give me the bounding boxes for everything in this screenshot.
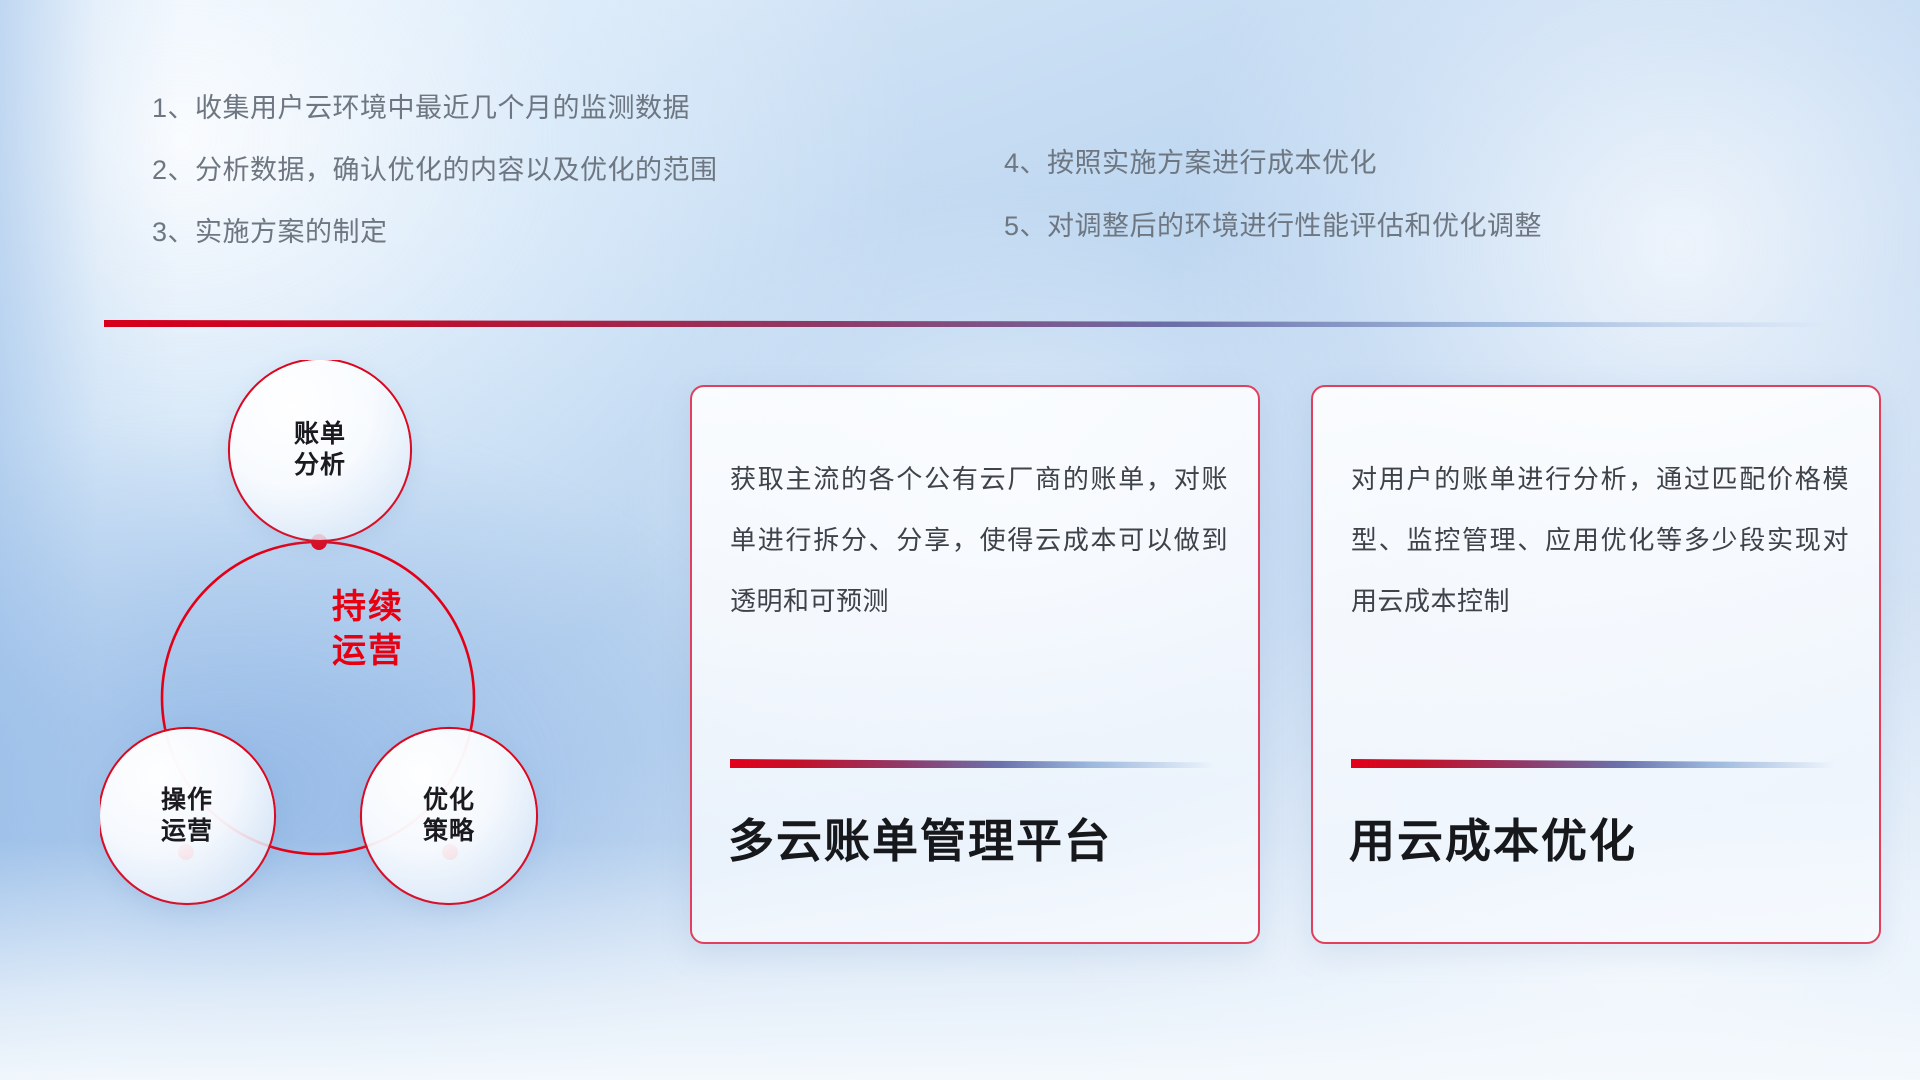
venn-bubble-label-line1: 优化: [423, 785, 475, 817]
venn-bubble-label-line1: 账单: [294, 419, 346, 451]
slide-canvas: 1、收集用户云环境中最近几个月的监测数据 2、分析数据，确认优化的内容以及优化的…: [0, 0, 1920, 1080]
step-item-1: 1、收集用户云环境中最近几个月的监测数据: [152, 95, 852, 122]
venn-center-label-line2: 运营: [273, 629, 463, 673]
venn-bubble-label-line1: 操作: [161, 785, 213, 817]
steps-right-column: 4、按照实施方案进行成本优化 5、对调整后的环境进行性能评估和优化调整: [1004, 150, 1764, 276]
step-item-5: 5、对调整后的环境进行性能评估和优化调整: [1004, 213, 1764, 240]
venn-bubble-label-line2: 运营: [161, 816, 213, 848]
venn-center-label-line1: 持续: [273, 585, 463, 629]
venn-diagram: 账单 分析 操作 运营 优化 策略 持续 运营: [100, 360, 640, 940]
card-title: 多云账单管理平台: [728, 805, 1112, 871]
venn-bubble-billing-analysis[interactable]: 账单 分析: [230, 360, 410, 540]
venn-bubble-label: 操作 运营: [161, 785, 213, 848]
step-item-2: 2、分析数据，确认优化的内容以及优化的范围: [152, 157, 852, 184]
venn-bubble-label: 优化 策略: [423, 785, 475, 848]
steps-left-column: 1、收集用户云环境中最近几个月的监测数据 2、分析数据，确认优化的内容以及优化的…: [152, 95, 852, 281]
venn-bubble-optimization-strategy[interactable]: 优化 策略: [362, 729, 536, 903]
venn-bubble-label-line2: 策略: [423, 816, 475, 848]
step-item-4: 4、按照实施方案进行成本优化: [1004, 150, 1764, 177]
venn-bubble-label: 账单 分析: [294, 419, 346, 482]
venn-center-label: 持续 运营: [273, 585, 463, 673]
card-accent-rule: [730, 759, 1214, 768]
card-multicloud-billing-platform[interactable]: 获取主流的各个公有云厂商的账单，对账单进行拆分、分享，使得云成本可以做到透明和可…: [690, 385, 1260, 944]
card-body-text: 获取主流的各个公有云厂商的账单，对账单进行拆分、分享，使得云成本可以做到透明和可…: [730, 449, 1228, 632]
card-accent-rule: [1351, 759, 1835, 768]
card-cloud-cost-optimization[interactable]: 对用户的账单进行分析，通过匹配价格模型、监控管理、应用优化等多少段实现对用云成本…: [1311, 385, 1881, 944]
venn-bubble-label-line2: 分析: [294, 450, 346, 482]
venn-bubble-operations[interactable]: 操作 运营: [100, 729, 274, 903]
card-title: 用云成本优化: [1349, 805, 1637, 871]
step-item-3: 3、实施方案的制定: [152, 219, 852, 246]
card-body-text: 对用户的账单进行分析，通过匹配价格模型、监控管理、应用优化等多少段实现对用云成本…: [1351, 449, 1849, 632]
